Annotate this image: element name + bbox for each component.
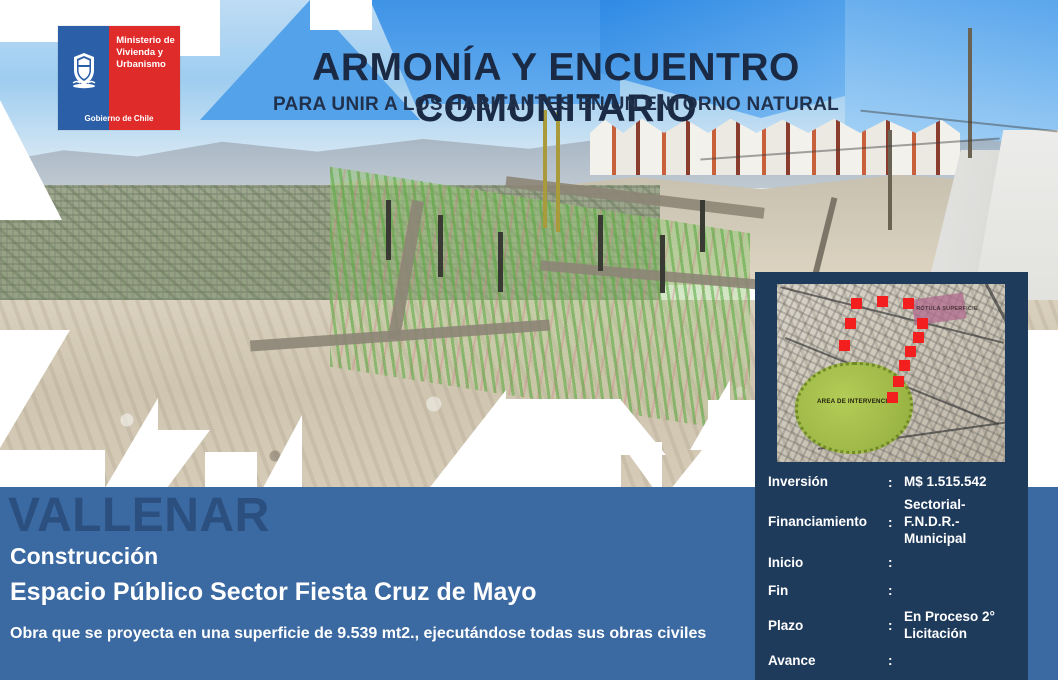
location-map-thumbnail[interactable]: AREA DE INTERVENCIÓN RÓTULA SUPERFICIE [777, 284, 1005, 462]
map-secondary-label: RÓTULA SUPERFICIE [905, 306, 989, 312]
logo-ministry-text: Ministerio de Vivienda y Urbanismo [116, 35, 176, 71]
logo-government-text: Gobierno de Chile [58, 114, 180, 123]
torn-edge-notch [98, 398, 158, 500]
info-value: En Proceso 2° Licitación [904, 609, 1020, 643]
map-marker [851, 298, 862, 309]
torn-edge-notch [1026, 330, 1058, 487]
info-value: M$ 1.515.542 [904, 474, 1020, 491]
info-row-financiamiento: Financiamiento : Sectorial-F.N.D.R.-Muni… [768, 496, 1020, 549]
work-type: Construcción [10, 545, 158, 568]
project-slide: Ministerio de Vivienda y Urbanismo Gobie… [0, 0, 1058, 680]
torn-edge-notch [506, 399, 621, 500]
info-value: Sectorial-F.N.D.R.-Municipal [904, 497, 1020, 548]
info-separator: : [888, 555, 904, 570]
info-row-plazo: Plazo : En Proceso 2° Licitación [768, 605, 1020, 647]
minvu-logo: Ministerio de Vivienda y Urbanismo Gobie… [58, 26, 180, 130]
torn-edge-notch [420, 390, 506, 500]
city-name: VALLENAR [8, 492, 270, 540]
map-marker [913, 332, 924, 343]
info-row-inversion: Inversión : M$ 1.515.542 [768, 468, 1020, 496]
work-name: Espacio Público Sector Fiesta Cruz de Ma… [10, 580, 537, 605]
info-label: Financiamiento [768, 514, 888, 530]
map-marker [877, 296, 888, 307]
logo-line-2: Vivienda y [116, 47, 176, 59]
render-post [386, 200, 391, 260]
map-road [780, 286, 1004, 344]
map-marker [899, 360, 910, 371]
torn-edge-notch [0, 330, 70, 448]
info-label: Inicio [768, 555, 888, 571]
info-label: Fin [768, 583, 888, 599]
torn-edge-notch [0, 100, 62, 220]
map-marker [839, 340, 850, 351]
render-post [438, 215, 443, 277]
render-post [700, 200, 705, 252]
info-row-estado: Estado : [768, 675, 1020, 680]
logo-line-3: Urbanismo [116, 59, 176, 71]
page-title: ARMONÍA Y ENCUENTRO COMUNITARIO [186, 48, 926, 130]
torn-edge-notch [690, 380, 730, 450]
info-panel: AREA DE INTERVENCIÓN RÓTULA SUPERFICIE I… [755, 272, 1028, 680]
map-marker [903, 298, 914, 309]
chile-coat-of-arms-icon [67, 50, 101, 90]
render-post [660, 235, 665, 293]
info-separator: : [888, 475, 904, 490]
info-row-avance: Avance : [768, 647, 1020, 675]
info-label: Plazo [768, 618, 888, 634]
render-post [498, 232, 503, 292]
info-separator: : [888, 583, 904, 598]
page-subtitle: PARA UNIR A LOS HABITANTES EN UN ENTORNO… [186, 94, 926, 116]
info-label: Inversión [768, 474, 888, 490]
project-info-table: Inversión : M$ 1.515.542 Financiamiento … [768, 468, 1020, 680]
utility-pole [556, 112, 560, 232]
map-marker [887, 392, 898, 403]
render-post [598, 215, 603, 271]
info-label: Avance [768, 653, 888, 669]
logo-line-1: Ministerio de [116, 35, 176, 47]
map-marker [845, 318, 856, 329]
info-row-inicio: Inicio : [768, 549, 1020, 577]
info-row-fin: Fin : [768, 577, 1020, 605]
collage-gap-g [310, 0, 372, 30]
map-marker [917, 318, 928, 329]
info-separator: : [888, 618, 904, 633]
work-description: Obra que se proyecta en una superficie d… [10, 622, 745, 645]
info-separator: : [888, 515, 904, 530]
map-marker [893, 376, 904, 387]
info-separator: : [888, 653, 904, 668]
map-marker [905, 346, 916, 357]
